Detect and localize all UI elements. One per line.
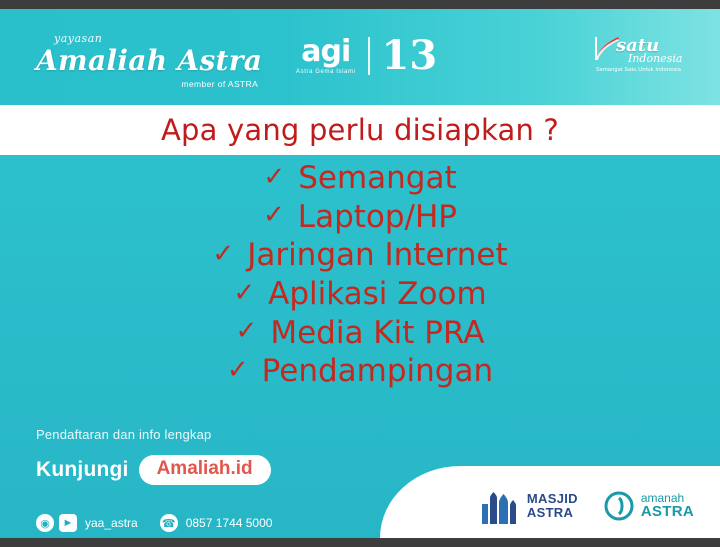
kunjungi-row: Kunjungi Amaliah.id	[36, 455, 271, 485]
masjid-line1: MASJID	[527, 492, 578, 506]
instagram-handle: yaa_astra	[85, 516, 138, 530]
satu-indonesia-logo: satu Indonesia Semangat Satu Untuk Indon…	[594, 35, 694, 81]
amanah-line2: ASTRA	[641, 504, 694, 520]
masjid-line2: ASTRA	[527, 506, 578, 520]
agi-word-text: agi	[301, 37, 350, 67]
amanah-astra-logo: amanah ASTRA	[604, 491, 694, 521]
check-icon: ✓	[212, 241, 234, 267]
list-item-label: Pendampingan	[262, 354, 493, 390]
agi-logo: agi Astra Gema Islami 13	[296, 36, 437, 76]
title-band: Apa yang perlu disiapkan ?	[0, 105, 720, 155]
check-icon: ✓	[263, 164, 285, 190]
amaliah-yayasan-text: yayasan	[54, 33, 262, 44]
check-icon: ✓	[233, 280, 255, 306]
masjid-astra-logo: MASJID ASTRA	[480, 488, 578, 524]
footer-logos: MASJID ASTRA amanah ASTRA	[480, 488, 694, 524]
amanah-circle-icon	[604, 491, 634, 521]
amaliah-name-text: Amaliah Astra	[36, 47, 262, 75]
amaliah-astra-logo: yayasan Amaliah Astra member of ASTRA	[36, 33, 262, 89]
satu-tagline-text: Semangat Satu Untuk Indonesia	[596, 67, 681, 73]
list-item: ✓ Jaringan Internet	[0, 238, 720, 274]
page-title: Apa yang perlu disiapkan ?	[161, 113, 559, 147]
check-icon: ✓	[236, 318, 258, 344]
check-icon: ✓	[227, 357, 249, 383]
indonesia-text: Indonesia	[628, 53, 682, 64]
list-item: ✓ Semangat	[0, 161, 720, 197]
slide-frame: yayasan Amaliah Astra member of ASTRA ag…	[0, 0, 720, 547]
website-pill[interactable]: Amaliah.id	[139, 455, 271, 485]
whatsapp-number: 0857 1744 5000	[186, 516, 273, 530]
whatsapp-icon[interactable]: ☎	[160, 514, 178, 532]
instagram-icon[interactable]: ◉	[36, 514, 54, 532]
list-item-label: Jaringan Internet	[247, 238, 507, 274]
list-item: ✓ Aplikasi Zoom	[0, 277, 720, 313]
mosque-icon	[480, 488, 520, 524]
amanah-line2-bold: ASTRA	[641, 503, 694, 520]
slide: yayasan Amaliah Astra member of ASTRA ag…	[0, 9, 720, 538]
amaliah-member-text: member of ASTRA	[36, 80, 262, 89]
agi-edition-number: 13	[382, 36, 438, 76]
social-row: ◉ ► yaa_astra ☎ 0857 1744 5000	[36, 514, 294, 532]
kunjungi-label: Kunjungi	[36, 458, 129, 482]
amanah-astra-text: amanah ASTRA	[641, 492, 694, 520]
slide-header: yayasan Amaliah Astra member of ASTRA ag…	[0, 9, 720, 105]
masjid-astra-text: MASJID ASTRA	[527, 492, 578, 519]
check-icon: ✓	[263, 202, 285, 228]
agi-wordmark: agi Astra Gema Islami	[296, 37, 356, 75]
list-item: ✓ Media Kit PRA	[0, 316, 720, 352]
agi-sub-text: Astra Gema Islami	[296, 69, 356, 75]
list-item-label: Aplikasi Zoom	[268, 277, 487, 313]
agi-divider-line	[368, 37, 370, 75]
checklist: ✓ Semangat ✓ Laptop/HP ✓ Jaringan Intern…	[0, 161, 720, 393]
list-item-label: Laptop/HP	[298, 200, 457, 236]
pendaftaran-text: Pendaftaran dan info lengkap	[36, 427, 211, 442]
list-item: ✓ Laptop/HP	[0, 200, 720, 236]
list-item-label: Semangat	[298, 161, 456, 197]
list-item: ✓ Pendampingan	[0, 354, 720, 390]
list-item-label: Media Kit PRA	[270, 316, 484, 352]
youtube-icon[interactable]: ►	[59, 514, 77, 532]
